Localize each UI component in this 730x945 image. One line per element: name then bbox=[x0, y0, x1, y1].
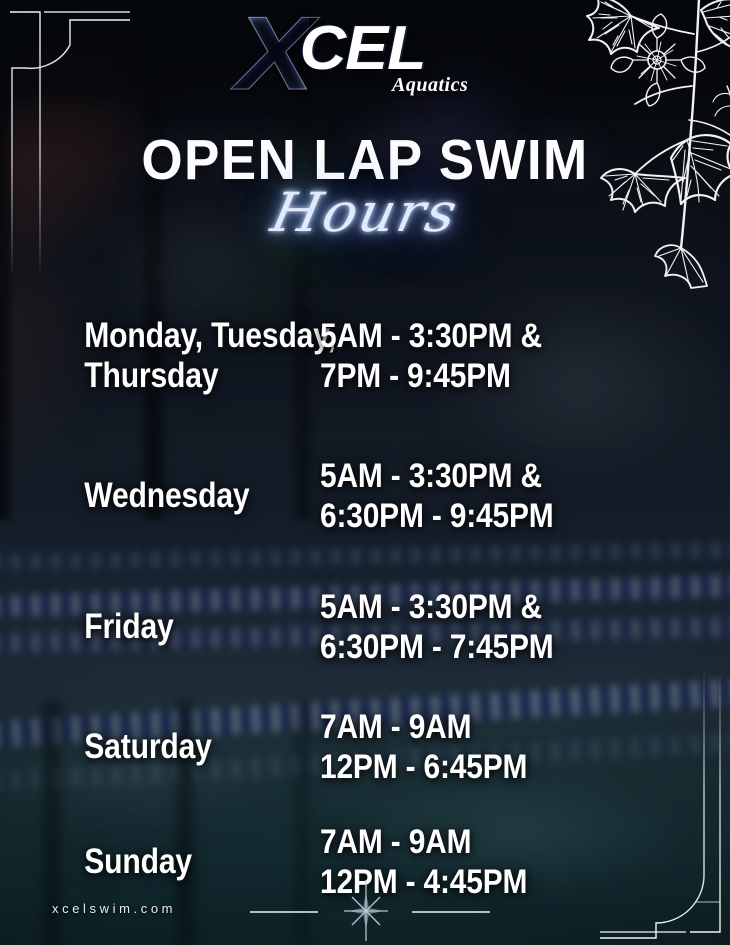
time-line: 6:30PM - 7:45PM bbox=[320, 627, 681, 667]
time-line: 5AM - 3:30PM & bbox=[320, 456, 681, 496]
time-line: 5AM - 3:30PM & bbox=[320, 587, 681, 627]
day-line: Monday, Tuesday, bbox=[84, 316, 275, 356]
schedule-time-value: 5AM - 3:30PM & 7PM - 9:45PM bbox=[320, 316, 681, 396]
time-line: 7AM - 9AM bbox=[320, 822, 681, 862]
day-line: Friday bbox=[84, 607, 275, 647]
day-line: Wednesday bbox=[84, 476, 275, 516]
schedule-row: Wednesday 5AM - 3:30PM & 6:30PM - 9:45PM bbox=[0, 426, 730, 566]
schedule-day-label: Saturday bbox=[0, 727, 275, 767]
day-line: Saturday bbox=[84, 727, 275, 767]
open-lap-swim-hours-flyer: X CEL Aquatics OPEN LAP SWIM Hours Monda… bbox=[0, 0, 730, 945]
time-line: 6:30PM - 9:45PM bbox=[320, 496, 681, 536]
footer: xcelswim.com bbox=[0, 891, 730, 931]
schedule-list: Monday, Tuesday, Thursday 5AM - 3:30PM &… bbox=[0, 286, 730, 918]
footer-rule-left bbox=[250, 911, 318, 913]
time-line: 7AM - 9AM bbox=[320, 707, 681, 747]
website-url[interactable]: xcelswim.com bbox=[52, 901, 176, 916]
schedule-row: Friday 5AM - 3:30PM & 6:30PM - 7:45PM bbox=[0, 566, 730, 688]
schedule-time-value: 5AM - 3:30PM & 6:30PM - 9:45PM bbox=[320, 456, 681, 536]
time-line: 7PM - 9:45PM bbox=[320, 356, 681, 396]
schedule-row: Monday, Tuesday, Thursday 5AM - 3:30PM &… bbox=[0, 286, 730, 426]
logo-cel-text: CEL bbox=[300, 18, 426, 80]
time-line: 5AM - 3:30PM & bbox=[320, 316, 681, 356]
schedule-day-label: Sunday bbox=[0, 842, 275, 882]
schedule-day-label: Monday, Tuesday, Thursday bbox=[0, 316, 275, 396]
xcel-aquatics-logo: X CEL Aquatics bbox=[0, 6, 730, 98]
schedule-day-label: Friday bbox=[0, 607, 275, 647]
day-line: Thursday bbox=[84, 356, 275, 396]
time-line: 12PM - 6:45PM bbox=[320, 747, 681, 787]
sparkle-icon bbox=[340, 879, 392, 943]
schedule-day-label: Wednesday bbox=[0, 476, 275, 516]
day-line: Sunday bbox=[84, 842, 275, 882]
page-subtitle-script: Hours bbox=[0, 186, 730, 240]
logo-aquatics-text: Aquatics bbox=[392, 74, 468, 97]
footer-rule-right bbox=[412, 911, 490, 913]
schedule-row: Saturday 7AM - 9AM 12PM - 6:45PM bbox=[0, 688, 730, 806]
logo-x-letter: X bbox=[236, 2, 309, 106]
schedule-time-value: 7AM - 9AM 12PM - 6:45PM bbox=[320, 707, 681, 787]
schedule-time-value: 5AM - 3:30PM & 6:30PM - 7:45PM bbox=[320, 587, 681, 667]
